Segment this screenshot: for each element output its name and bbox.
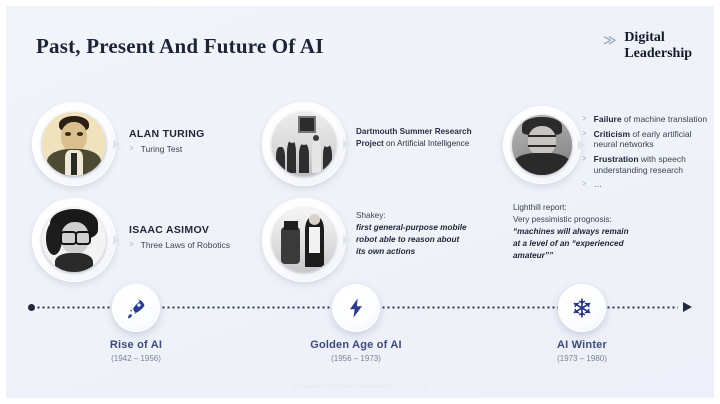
timeline-node-rise-of-ai[interactable]: [112, 284, 160, 332]
ai-winter-bullets: > Failure of machine translation > Criti…: [582, 110, 710, 190]
winter-bullet-text: Failure of machine translation: [594, 114, 707, 125]
timeline-node-golden-age[interactable]: [332, 284, 380, 332]
shakey-avatar-circle: [262, 198, 346, 282]
rocket-icon: [125, 297, 147, 319]
asimov-bullet-label: Three Laws of Robotics: [141, 240, 230, 251]
logo-text: Digital Leadership: [624, 30, 692, 61]
timeline-node-ai-winter[interactable]: [558, 284, 606, 332]
slide-footer: © Copyright 2024 Digital Leadership AG 6: [6, 384, 714, 390]
timeline-start-dot: [28, 304, 35, 311]
isaac-asimov-photo: [42, 208, 106, 272]
asimov-avatar-circle: [32, 198, 116, 282]
winter-bullet-text: Criticism of early artificial neural net…: [594, 129, 710, 150]
winter-bullet: > Failure of machine translation: [582, 114, 710, 125]
dartmouth-text-block: Dartmouth Summer Research Project on Art…: [356, 126, 474, 150]
chevron-right-icon: >: [582, 179, 586, 190]
lightning-icon: [345, 297, 367, 319]
winter-bullet-text: Frustration with speech understanding re…: [594, 154, 710, 175]
brand-logo: ≫ Digital Leadership: [602, 30, 692, 61]
chevron-right-icon: >: [129, 240, 133, 251]
footer-copyright: © Copyright 2024 Digital Leadership AG: [294, 384, 394, 390]
turing-name: ALAN TURING: [129, 128, 244, 140]
timeline-title: Golden Age of AI: [266, 339, 446, 351]
dartmouth-description: Dartmouth Summer Research Project on Art…: [356, 126, 474, 150]
timeline-title: Rise of AI: [46, 339, 226, 351]
shakey-text-block: Shakey: first general-purpose mobile rob…: [356, 210, 468, 258]
snowflake-icon: [571, 297, 593, 319]
timeline-label-ai-winter: AI Winter (1973 – 1980): [492, 339, 672, 363]
lighthill-report-block: Lighthill report: Very pessimistic progn…: [513, 202, 635, 261]
dartmouth-rest: on Artificial Intelligence: [384, 139, 470, 148]
timeline-years: (1956 – 1973): [266, 354, 446, 363]
lighthill-quote: “machines will always remain at a level …: [513, 226, 635, 262]
timeline-title: AI Winter: [492, 339, 672, 351]
lighthill-report-line-2: Very pessimistic prognosis:: [513, 214, 635, 226]
shakey-photo: [272, 208, 336, 272]
lighthill-photo: [512, 115, 572, 175]
timeline-years: (1942 – 1956): [46, 354, 226, 363]
shakey-label: Shakey:: [356, 210, 468, 222]
turing-bullet-label: Turing Test: [141, 144, 183, 155]
turing-bullet: > Turing Test: [129, 144, 244, 155]
timeline-label-golden-age: Golden Age of AI (1956 – 1973): [266, 339, 446, 363]
dartmouth-photo: [272, 112, 336, 176]
alan-turing-photo: [42, 112, 106, 176]
chevron-right-icon: >: [582, 114, 586, 125]
shakey-description: first general-purpose mobile robot able …: [356, 222, 468, 258]
asimov-bullet: > Three Laws of Robotics: [129, 240, 254, 251]
slide-canvas: Past, Present And Future Of AI ≫ Digital…: [6, 6, 714, 398]
footer-page-number: 6: [423, 384, 426, 390]
chevron-right-icon: >: [582, 154, 586, 175]
dartmouth-avatar-circle: [262, 102, 346, 186]
logo-line-1: Digital: [624, 30, 692, 46]
page-title: Past, Present And Future Of AI: [36, 34, 324, 59]
timeline-arrow-icon: [683, 302, 692, 312]
lighthill-avatar-circle: [503, 106, 581, 184]
asimov-text-block: ISAAC ASIMOV > Three Laws of Robotics: [129, 224, 254, 251]
turing-text-block: ALAN TURING > Turing Test: [129, 128, 244, 155]
lighthill-report-line-1: Lighthill report:: [513, 202, 635, 214]
logo-line-2: Leadership: [624, 46, 692, 62]
winter-bullet: > …: [582, 179, 710, 190]
timeline-years: (1973 – 1980): [492, 354, 672, 363]
chevron-right-icon: >: [582, 129, 586, 150]
double-chevron-icon: ≫: [603, 33, 616, 48]
timeline-label-rise-of-ai: Rise of AI (1942 – 1956): [46, 339, 226, 363]
chevron-right-icon: >: [129, 144, 133, 155]
asimov-name: ISAAC ASIMOV: [129, 224, 254, 236]
winter-bullet: > Frustration with speech understanding …: [582, 154, 710, 175]
winter-bullet-text: …: [594, 179, 603, 190]
winter-bullet: > Criticism of early artificial neural n…: [582, 129, 710, 150]
turing-avatar-circle: [32, 102, 116, 186]
